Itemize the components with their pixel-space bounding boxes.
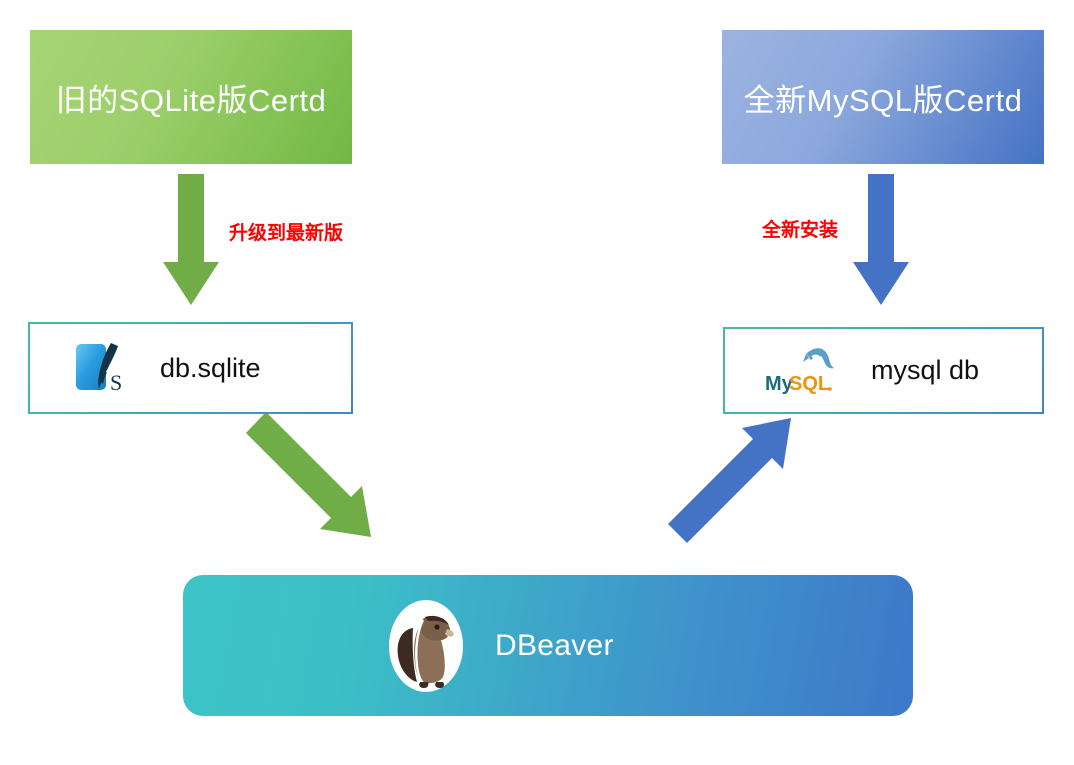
database-box-mysql-db-label: mysql db bbox=[871, 355, 979, 386]
source-box-old-certd-label: 旧的SQLite版Certd bbox=[56, 75, 327, 120]
svg-text:SQL: SQL bbox=[789, 373, 830, 395]
svg-text:S: S bbox=[110, 370, 122, 395]
database-box-db-sqlite-label: db.sqlite bbox=[160, 353, 261, 384]
target-box-dbeaver-label: DBeaver bbox=[495, 629, 614, 663]
database-box-mysql-db[interactable]: My SQL mysql db bbox=[723, 327, 1044, 414]
database-box-db-sqlite[interactable]: S db.sqlite bbox=[28, 322, 353, 414]
diagram-canvas: 旧的SQLite版Certd 全新MySQL版Certd 升级到最新版 全新安装 bbox=[0, 0, 1074, 765]
down-arrow-icon-upgrade bbox=[162, 174, 220, 306]
sqlite-logo-icon: S bbox=[70, 337, 132, 399]
up-right-arrow-icon-mysql-to-dbeaver bbox=[652, 412, 812, 572]
source-box-old-certd[interactable]: 旧的SQLite版Certd bbox=[30, 30, 352, 164]
arrow-label-install: 全新安装 bbox=[762, 215, 838, 242]
source-box-new-certd[interactable]: 全新MySQL版Certd bbox=[722, 30, 1044, 164]
dbeaver-beaver-icon bbox=[387, 598, 465, 694]
mysql-logo-icon: My SQL bbox=[765, 345, 843, 397]
source-box-new-certd-label: 全新MySQL版Certd bbox=[744, 75, 1023, 120]
down-arrow-icon-install bbox=[852, 174, 910, 306]
arrow-label-upgrade: 升级到最新版 bbox=[229, 218, 343, 245]
target-box-dbeaver[interactable]: DBeaver bbox=[183, 575, 913, 716]
down-right-arrow-icon-sqlite-to-dbeaver bbox=[244, 412, 404, 572]
